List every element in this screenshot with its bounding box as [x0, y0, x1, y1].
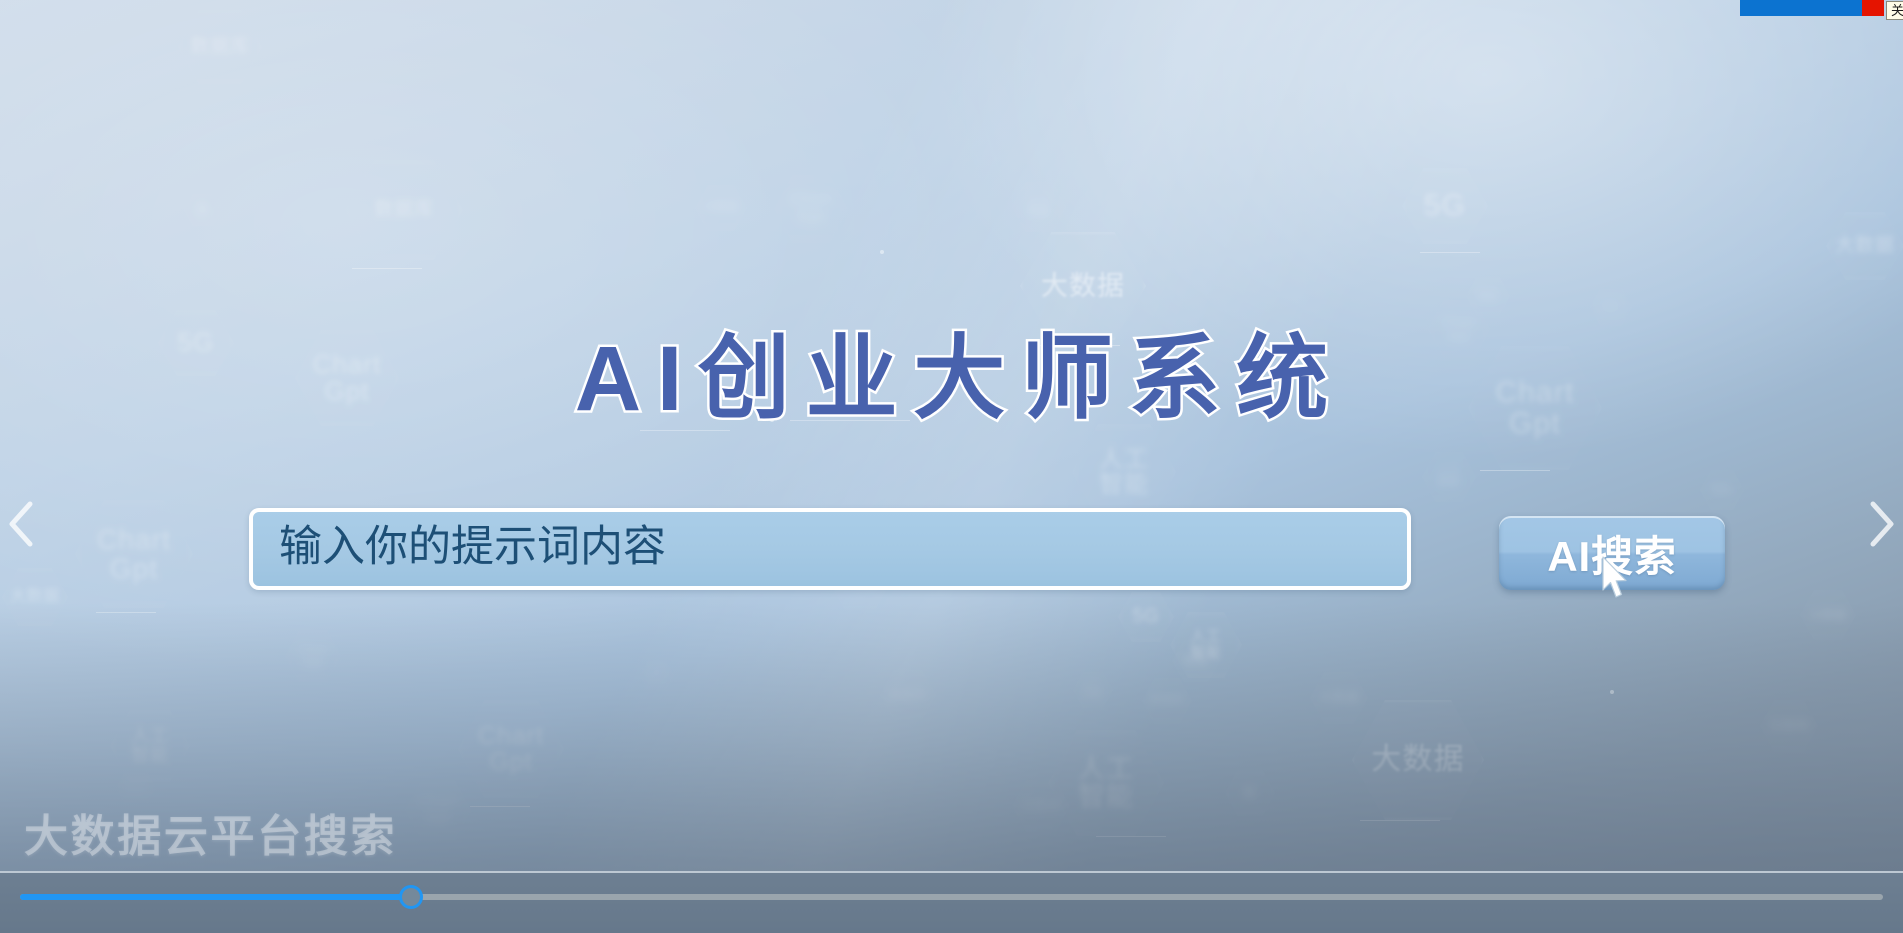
- window-chrome: 关闭: [1740, 0, 1903, 18]
- window-close-button[interactable]: [1862, 0, 1884, 16]
- search-input[interactable]: [249, 508, 1411, 590]
- background-gradient: [0, 0, 1903, 933]
- progress-slider-track[interactable]: [20, 894, 1883, 900]
- close-tooltip: 关闭: [1886, 1, 1903, 20]
- progress-slider-handle[interactable]: [399, 885, 423, 909]
- ai-search-button[interactable]: AI搜索: [1499, 516, 1725, 590]
- page-title: AI创业大师系统: [0, 333, 1903, 425]
- progress-slider-fill: [20, 894, 411, 900]
- carousel-prev-icon[interactable]: [2, 496, 42, 552]
- app-root: 数据库数5GChart Gpt大数据Chart Gpt人工 智能大数据5G5G5…: [0, 0, 1903, 933]
- carousel-next-icon[interactable]: [1861, 496, 1901, 552]
- search-row: AI搜索: [0, 508, 1903, 592]
- player-footer-bar: [0, 871, 1903, 933]
- window-titlebar-strip: [1740, 0, 1862, 16]
